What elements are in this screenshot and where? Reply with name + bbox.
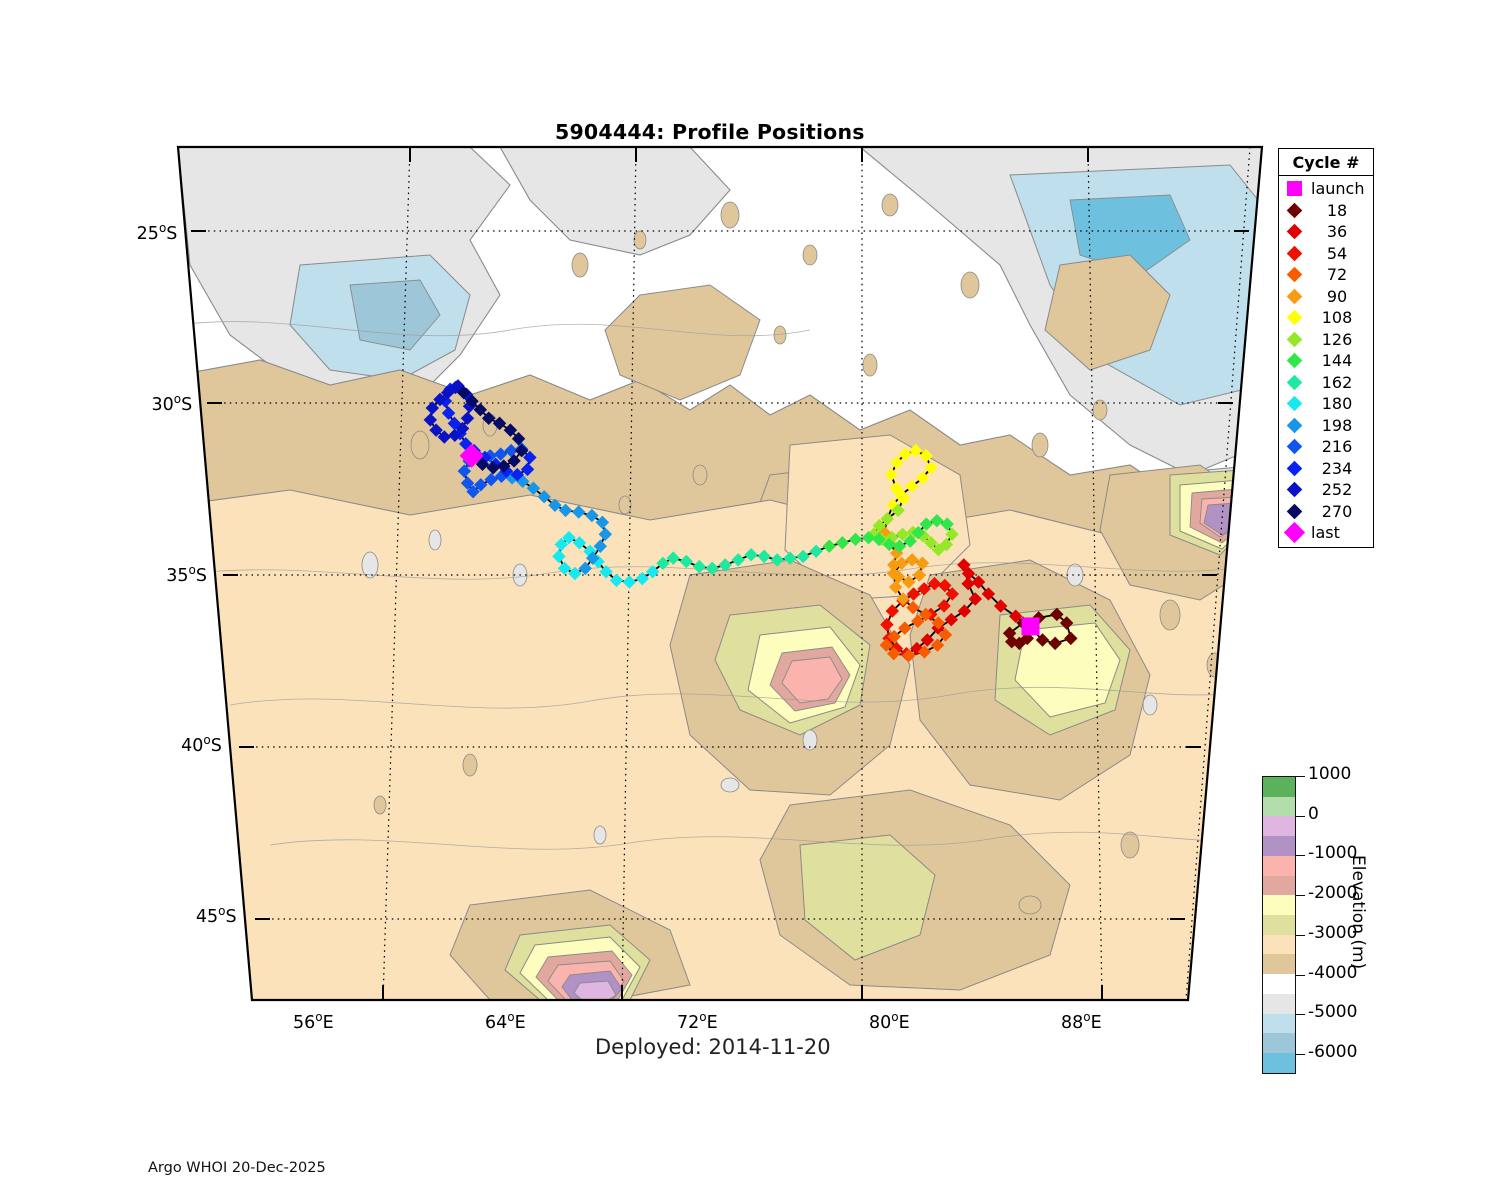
legend-label: 198 [1309,416,1365,435]
source-footer: Argo WHOI 20-Dec-2025 [148,1160,326,1176]
diamond-marker-icon [1286,374,1302,390]
diamond-big-marker-icon [1283,522,1304,543]
legend-label: 270 [1309,502,1365,521]
legend-label: 36 [1309,222,1365,241]
colorbar-tick-label: 1000 [1308,764,1351,784]
legend-item[interactable]: 252 [1279,479,1373,501]
diamond-marker-icon [1286,310,1302,326]
diamond-marker-icon [1286,224,1302,240]
legend-items[interactable]: launch1836547290108126144162180198216234… [1279,176,1373,547]
diamond-marker-icon [1286,202,1302,218]
legend-item[interactable]: 54 [1279,243,1373,265]
legend-swatch-126 [1279,334,1309,345]
diamond-marker-icon [1286,245,1302,261]
legend-item[interactable]: 36 [1279,221,1373,243]
colorbar-tick [1296,776,1305,777]
legend-label: 90 [1309,287,1365,306]
legend-item[interactable]: 18 [1279,200,1373,222]
colorbar-tick [1296,1014,1305,1015]
lon-tick-label: 64oE [485,1010,526,1033]
colorbar-band [1263,935,1295,955]
legend-swatch-launch [1279,181,1309,196]
legend-swatch-270 [1279,506,1309,517]
legend-item[interactable]: 90 [1279,286,1373,308]
legend-swatch-198 [1279,420,1309,431]
page-title: 5904444: Profile Positions [555,120,865,144]
colorbar-tick [1296,975,1305,976]
legend-label: 54 [1309,244,1365,263]
diamond-marker-icon [1286,267,1302,283]
colorbar-tick-label: -6000 [1308,1042,1357,1062]
lon-tick-label: 80oE [869,1010,910,1033]
colorbar-tick-label: -5000 [1308,1002,1357,1022]
legend-item[interactable]: 270 [1279,501,1373,523]
diamond-marker-icon [1286,417,1302,433]
colorbar-band [1263,994,1295,1014]
legend-label: 162 [1309,373,1365,392]
lat-tick-label: 35oS [137,563,207,586]
colorbar-band [1263,954,1295,974]
legend-label: 108 [1309,308,1365,327]
colorbar-band [1263,856,1295,876]
legend-label: launch [1309,179,1364,198]
diamond-marker-icon [1286,482,1302,498]
legend-item[interactable]: last [1279,522,1373,544]
legend-label: 144 [1309,351,1365,370]
lat-tick-label: 25oS [107,221,177,244]
legend-item[interactable]: 126 [1279,329,1373,351]
map-panel[interactable] [170,145,1270,1005]
colorbar-band [1263,876,1295,896]
colorbar-band [1263,797,1295,817]
elevation-colorbar[interactable] [1262,776,1296,1074]
legend-item[interactable]: 234 [1279,458,1373,480]
cycle-legend[interactable]: Cycle # launch18365472901081261441621801… [1278,148,1374,548]
legend-swatch-162 [1279,377,1309,388]
legend-swatch-18 [1279,205,1309,216]
colorbar-band [1263,816,1295,836]
legend-item[interactable]: 198 [1279,415,1373,437]
legend-swatch-last [1279,525,1309,540]
legend-label: 252 [1309,480,1365,499]
legend-swatch-36 [1279,226,1309,237]
lon-tick-label: 72oE [677,1010,718,1033]
colorbar-tick [1296,935,1305,936]
legend-label: 126 [1309,330,1365,349]
legend-swatch-72 [1279,269,1309,280]
diamond-marker-icon [1286,396,1302,412]
colorbar-band [1263,1033,1295,1053]
colorbar-band [1263,836,1295,856]
legend-swatch-144 [1279,355,1309,366]
legend-label: 234 [1309,459,1365,478]
colorbar-title: Elevation (m) [1348,855,1368,969]
map-canvas[interactable] [170,145,1270,1005]
colorbar-tick [1296,855,1305,856]
colorbar-band [1263,1053,1295,1073]
legend-item[interactable]: launch [1279,178,1373,200]
legend-item[interactable]: 180 [1279,393,1373,415]
colorbar-band [1263,974,1295,994]
deployed-caption: Deployed: 2014-11-20 [595,1035,831,1059]
legend-item[interactable]: 162 [1279,372,1373,394]
legend-item[interactable]: 216 [1279,436,1373,458]
colorbar-band [1263,895,1295,915]
diamond-marker-icon [1286,353,1302,369]
legend-label: last [1309,523,1340,542]
lon-tick-label: 56oE [293,1010,334,1033]
diamond-marker-icon [1286,460,1302,476]
colorbar-band [1263,777,1295,797]
legend-item[interactable]: 108 [1279,307,1373,329]
legend-swatch-54 [1279,248,1309,259]
legend-label: 18 [1309,201,1365,220]
colorbar-tick [1296,895,1305,896]
legend-title: Cycle # [1279,149,1373,176]
lat-tick-label: 40oS [152,733,222,756]
legend-swatch-216 [1279,441,1309,452]
legend-label: 216 [1309,437,1365,456]
diamond-marker-icon [1286,439,1302,455]
launch-marker[interactable] [1022,617,1040,635]
legend-item[interactable]: 72 [1279,264,1373,286]
lat-tick-label: 45oS [167,904,237,927]
legend-swatch-108 [1279,312,1309,323]
diamond-marker-icon [1286,503,1302,519]
legend-label: 180 [1309,394,1365,413]
legend-swatch-252 [1279,484,1309,495]
diamond-marker-icon [1286,331,1302,347]
square-marker-icon [1287,181,1302,196]
lon-tick-label: 88oE [1061,1010,1102,1033]
legend-swatch-180 [1279,398,1309,409]
colorbar-band [1263,915,1295,935]
diamond-marker-icon [1286,288,1302,304]
legend-swatch-90 [1279,291,1309,302]
legend-swatch-234 [1279,463,1309,474]
colorbar-tick [1296,1054,1305,1055]
colorbar-tick-label: 0 [1308,804,1319,824]
colorbar-tick [1296,816,1305,817]
colorbar-band [1263,1014,1295,1034]
lat-tick-label: 30oS [122,392,192,415]
legend-label: 72 [1309,265,1365,284]
legend-item[interactable]: 144 [1279,350,1373,372]
